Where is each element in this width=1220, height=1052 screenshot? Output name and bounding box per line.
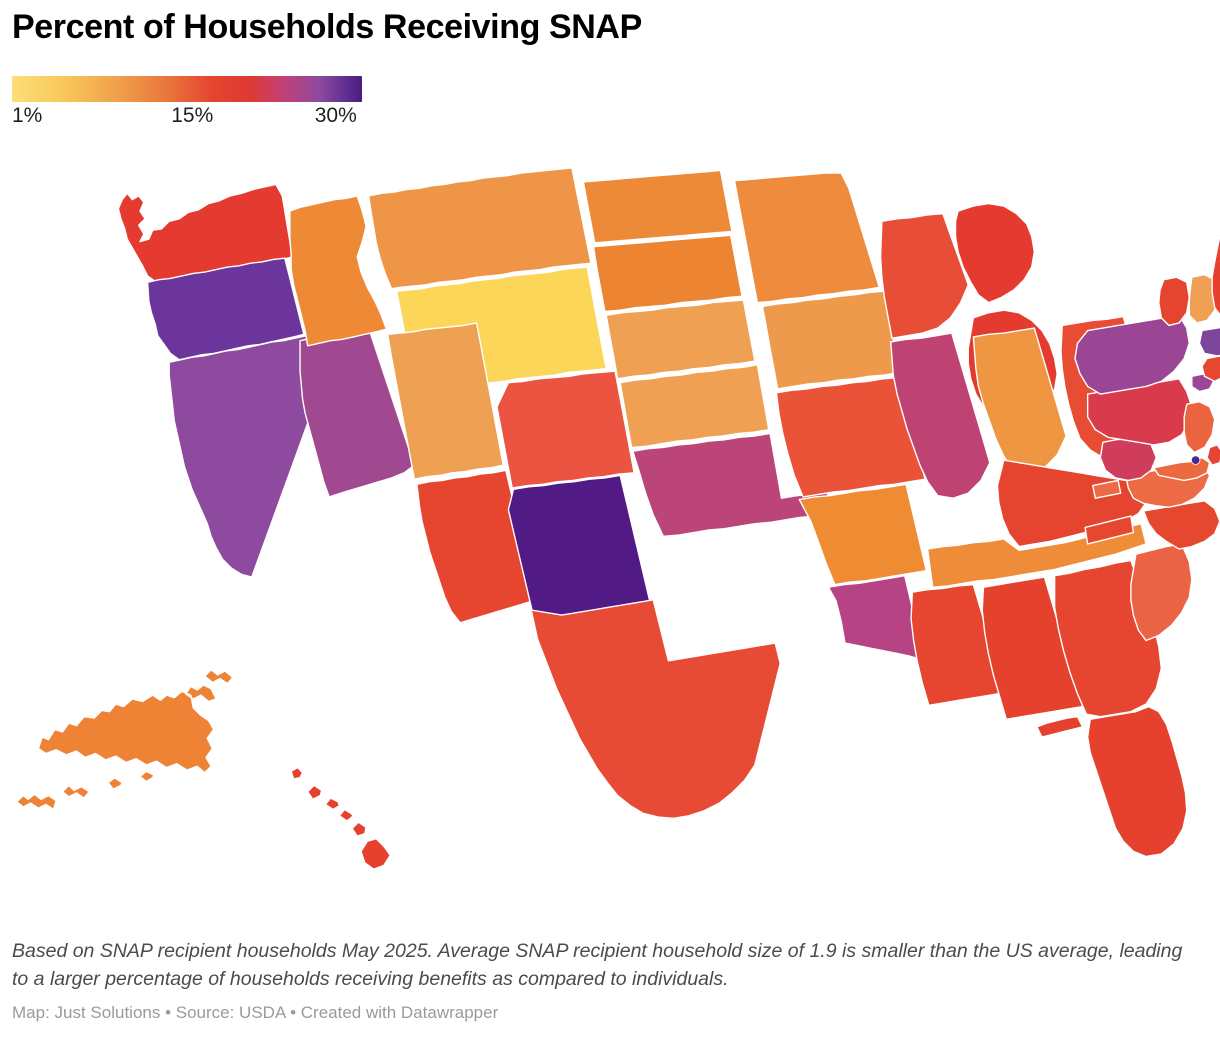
- state-nm[interactable]: New Mexico: 30%: [508, 475, 650, 625]
- state-mn[interactable]: Minnesota: 11.8%: [734, 173, 879, 303]
- state-ma[interactable]: Massachusetts: 24.5%: [1199, 323, 1220, 356]
- footer-note: Based on SNAP recipient households May 2…: [12, 938, 1197, 993]
- snap-choropleth-page: Percent of Households Receiving SNAP 1%1…: [0, 0, 1220, 1052]
- us-choropleth-map[interactable]: Washington: 17%Oregon: 26%California: 24…: [0, 140, 1220, 920]
- state-sd[interactable]: South Dakota: 12%: [593, 235, 742, 311]
- state-vt[interactable]: Vermont: 16.5%: [1159, 277, 1189, 325]
- state-ks[interactable]: Kansas: 10.5%: [620, 365, 769, 448]
- states-layer[interactable]: Washington: 17%Oregon: 26%California: 24…: [17, 168, 1220, 869]
- legend-tick-1: 15%: [171, 103, 213, 129]
- state-nd[interactable]: North Dakota: 11.5%: [583, 170, 732, 242]
- state-ak[interactable]: Alaska: 12%: [17, 670, 233, 810]
- page-title: Percent of Households Receiving SNAP: [12, 8, 642, 46]
- legend-tick-0: 1%: [12, 103, 42, 129]
- legend: 1%15%30%: [12, 76, 362, 129]
- state-ca[interactable]: California: 24%: [169, 336, 321, 577]
- state-ar[interactable]: Arkansas: 12.5%: [799, 484, 926, 584]
- footer: Based on SNAP recipient households May 2…: [12, 938, 1208, 1023]
- legend-tick-labels: 1%15%30%: [12, 103, 362, 129]
- state-fl[interactable]: Florida: 16.5%: [1037, 707, 1187, 857]
- state-ne[interactable]: Nebraska: 10.5%: [606, 300, 755, 379]
- state-hi[interactable]: Hawaii: 16.5%: [291, 768, 390, 870]
- state-nj[interactable]: New Jersey: 14.5%: [1184, 402, 1214, 453]
- state-tx[interactable]: Texas: 15.8%: [531, 600, 780, 819]
- state-co[interactable]: Colorado: 15.5%: [497, 371, 634, 488]
- legend-gradient-bar: [12, 76, 362, 102]
- us-map-svg[interactable]: Washington: 17%Oregon: 26%California: 24…: [0, 140, 1220, 920]
- legend-tick-2: 30%: [315, 103, 357, 129]
- state-sc[interactable]: South Carolina: 14%: [1131, 544, 1192, 641]
- state-ia[interactable]: Iowa: 11%: [762, 291, 899, 389]
- footer-credit: Map: Just Solutions • Source: USDA • Cre…: [12, 1003, 1208, 1023]
- state-dc[interactable]: District of Columbia: 29%: [1191, 456, 1200, 465]
